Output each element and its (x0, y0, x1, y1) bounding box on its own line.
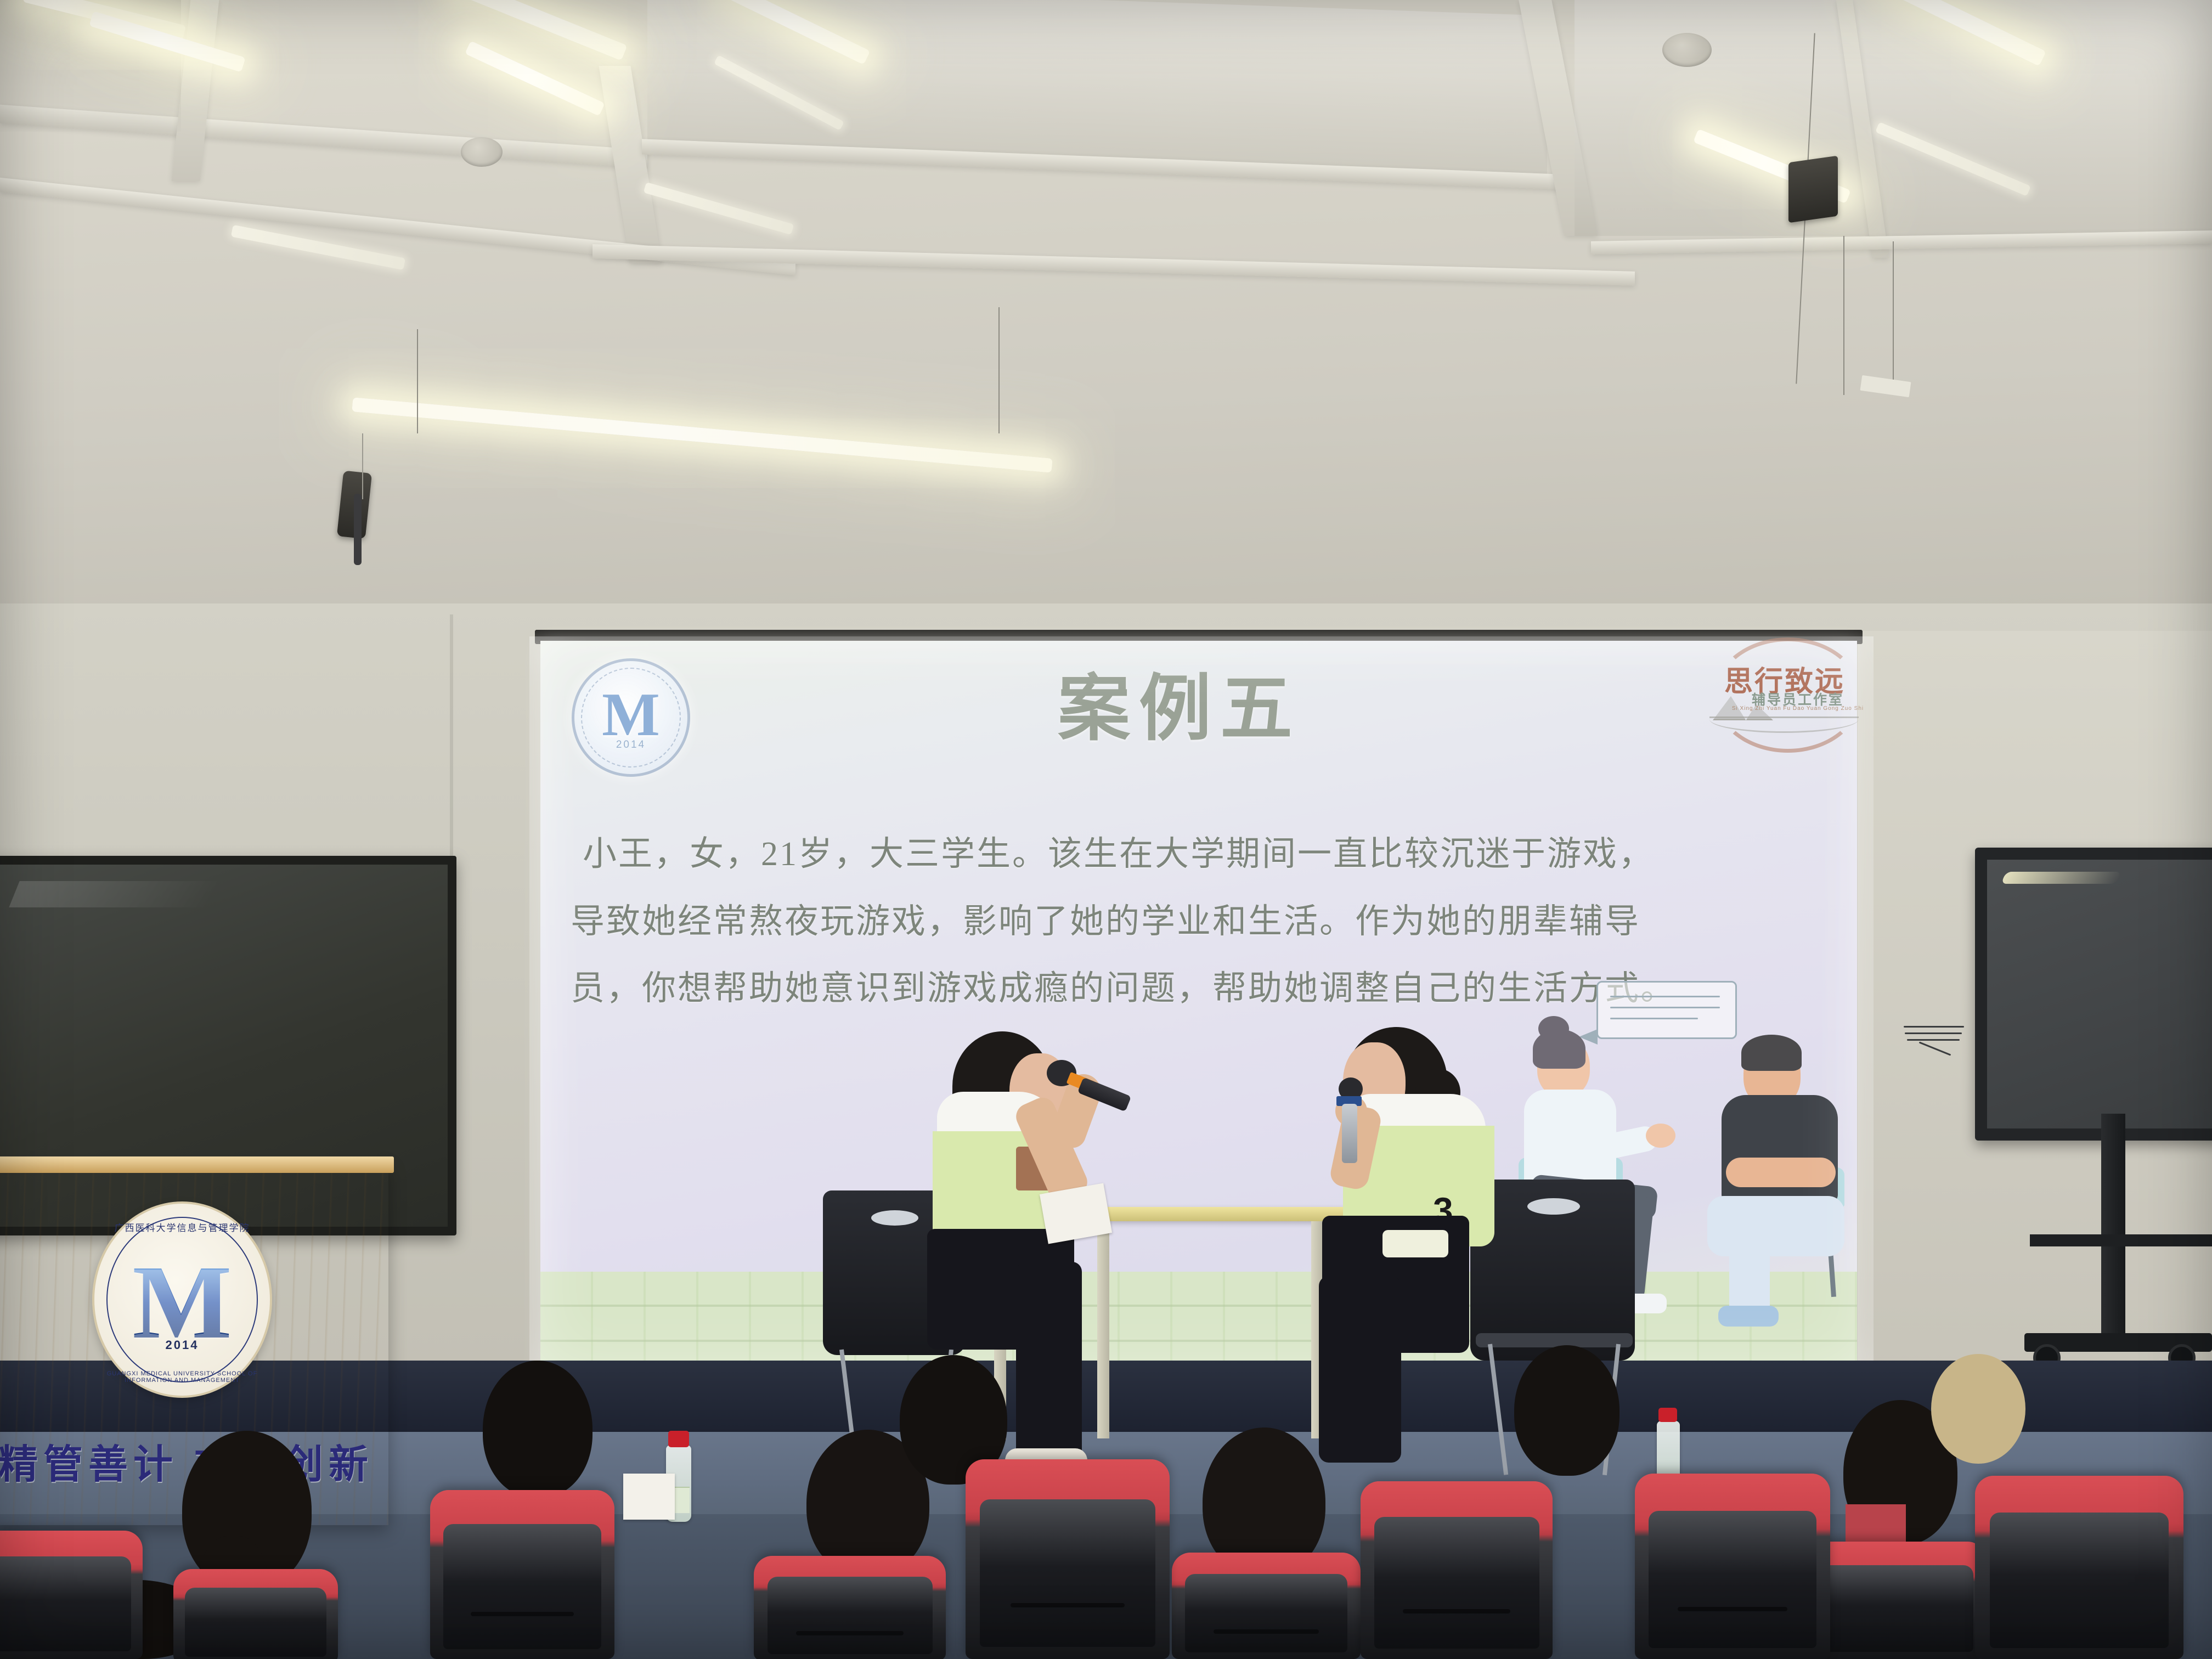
studio-badge-icon: 思行致远 辅导员工作室 Si Xing Zhi Yuan Fu Dao Yuan… (1694, 636, 1875, 746)
illustration-figure-hand (1646, 1124, 1675, 1148)
microphone-body (1342, 1104, 1357, 1163)
slide-body-line: 小王，女，21岁，大三学生。该生在大学期间一直比较沉迷于游戏， (583, 826, 1654, 875)
audience-seat[interactable] (430, 1490, 614, 1659)
display-stand-shelf (2030, 1234, 2212, 1246)
audience-seat[interactable] (1361, 1481, 1553, 1659)
speech-bubble-icon (1596, 981, 1737, 1039)
illustration-figure-bun (1538, 1016, 1569, 1041)
university-logo-icon: M 2014 (572, 658, 690, 777)
light-suspension-wire (998, 307, 1000, 433)
emblem-ring-text-bottom: GUANGXI MEDICAL UNIVERSITY SCHOOL OF INF… (94, 1370, 270, 1384)
university-emblem-icon: 广西医科大学信息与管理学院 M 2014 GUANGXI MEDICAL UNI… (92, 1201, 272, 1398)
presenter-lower-leg (1319, 1276, 1401, 1463)
audience-seat[interactable] (173, 1569, 338, 1659)
podium-top-surface (0, 1156, 394, 1173)
water-bottle-cap (1658, 1408, 1677, 1422)
illustration-figure-shoe (1718, 1306, 1779, 1327)
light-suspension-wire (417, 329, 418, 433)
paper-sheet (623, 1474, 675, 1520)
water-bottle-cap (668, 1431, 689, 1447)
display-tick-marks-icon (1904, 1026, 1964, 1059)
lecture-hall-photo: M 2014 思行致远 辅导员工作室 Si Xing Zhi Yuan Fu D… (0, 0, 2212, 1659)
smoke-detector-icon (1662, 33, 1712, 67)
emblem-ring-text-top: 广西医科大学信息与管理学院 (113, 1220, 251, 1286)
light-suspension-wire (1893, 241, 1894, 390)
audience-seat[interactable] (1172, 1553, 1361, 1659)
illustration-figure-hair (1741, 1035, 1802, 1071)
audience-seat[interactable] (966, 1459, 1170, 1659)
audience-seat[interactable] (754, 1556, 946, 1659)
studio-badge-pinyin: Si Xing Zhi Yuan Fu Dao Yuan Gong Zuo Sh… (1727, 706, 1869, 712)
hanging-microphone (354, 494, 362, 565)
presenter-shirt-hem (1383, 1230, 1448, 1257)
audience-head (483, 1361, 592, 1498)
audience-seat[interactable] (0, 1531, 143, 1659)
slide-body-line: 员，你想帮助她意识到游戏成瘾的问题，帮助她调整自己的生活方式。 (571, 960, 1676, 1009)
illustration-figure-legs (1707, 1196, 1844, 1256)
audience-head (1514, 1345, 1620, 1476)
slide-body-line: 导致她经常熬夜玩游戏，影响了她的学业和生活。作为她的朋辈辅导 (571, 893, 1640, 943)
presenter-lower-leg (1016, 1262, 1082, 1465)
stage-chair-rail (1476, 1333, 1633, 1347)
audience-seat[interactable] (1805, 1542, 1986, 1659)
illustration-figure-shin (1729, 1234, 1770, 1317)
audience-head (1931, 1354, 2025, 1464)
smoke-detector-icon (461, 137, 503, 167)
interactive-display[interactable] (1975, 848, 2212, 1141)
slide-title: 案例五 (966, 650, 1393, 755)
audience-seat[interactable] (1975, 1476, 2183, 1659)
display-stand-column (2101, 1114, 2125, 1344)
hanging-microphone-wire (362, 433, 363, 499)
ceiling-panel (1575, 0, 2212, 236)
light-suspension-wire (1843, 236, 1844, 395)
audience-seat[interactable] (1635, 1474, 1830, 1659)
ceiling-speaker (1788, 156, 1838, 223)
stage-table-leg (1097, 1221, 1109, 1438)
illustration-figure-crossed-arms (1726, 1158, 1836, 1187)
